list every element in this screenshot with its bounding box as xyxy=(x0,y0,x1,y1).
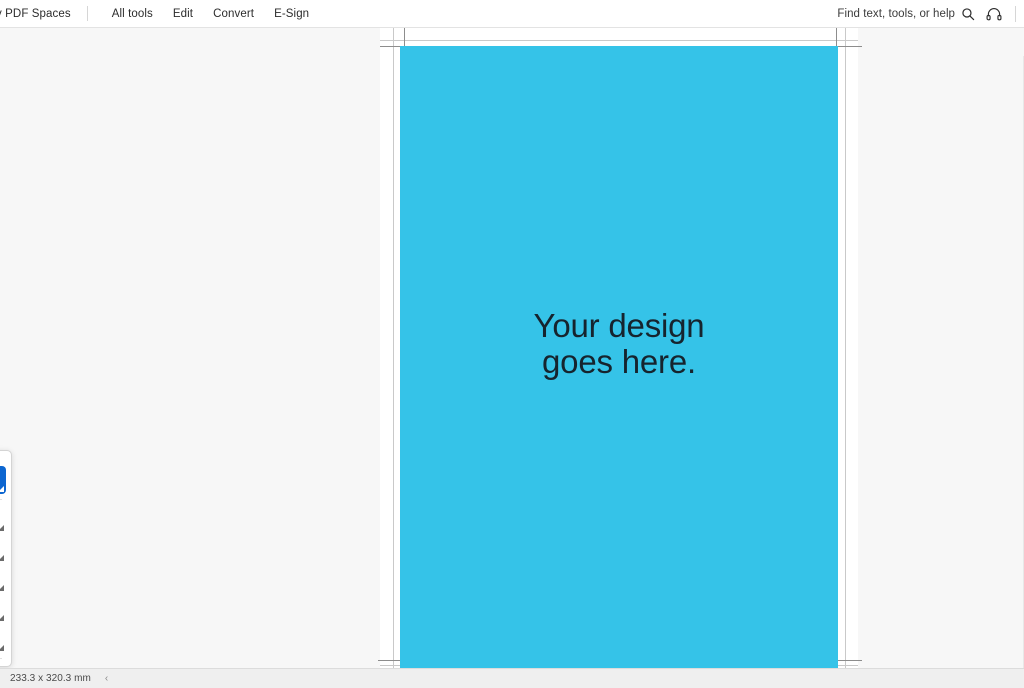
artwork-design-area[interactable]: Your design goes here. xyxy=(400,46,838,688)
highlight-comment-tool[interactable] xyxy=(0,505,6,533)
crop-mark-bottom-right-horizontal xyxy=(836,660,862,661)
tool-separator xyxy=(0,499,2,500)
draw-freehand-tool[interactable] xyxy=(0,625,6,653)
add-text-comment-tool[interactable] xyxy=(0,595,6,623)
search-icon[interactable] xyxy=(955,2,981,26)
topbar-right-divider xyxy=(1015,6,1016,22)
status-collapse-chevron-icon[interactable]: ‹ xyxy=(105,673,108,684)
chevron-down-icon[interactable] xyxy=(0,486,4,492)
chevron-down-icon[interactable] xyxy=(0,525,4,531)
status-bar: 233.3 x 320.3 mm ‹ xyxy=(0,668,1024,688)
topbar-right-group: Find text, tools, or help xyxy=(837,2,1024,26)
tool-separator xyxy=(0,658,2,659)
brand-label[interactable]: y PDF Spaces xyxy=(0,8,71,20)
acrobat-window: y PDF Spaces All tools Edit Convert E-Si… xyxy=(0,0,1024,688)
chevron-down-icon[interactable] xyxy=(0,615,4,621)
page-dimensions-label: 233.3 x 320.3 mm xyxy=(10,673,91,684)
select-text-tool[interactable] xyxy=(0,466,6,494)
chevron-down-icon[interactable] xyxy=(0,585,4,591)
bleed-guide-right xyxy=(845,28,846,668)
menu-convert[interactable]: Convert xyxy=(203,4,264,24)
menu-edit[interactable]: Edit xyxy=(163,4,203,24)
chevron-down-icon[interactable] xyxy=(0,555,4,561)
crop-mark-top-right-horizontal xyxy=(838,46,862,47)
chevron-down-icon[interactable] xyxy=(0,645,4,651)
strikethrough-comment-tool[interactable] xyxy=(0,565,6,593)
bleed-guide-left xyxy=(393,28,394,668)
bleed-guide-top xyxy=(380,40,858,41)
quick-tools-panel[interactable] xyxy=(0,450,12,667)
menu-esign[interactable]: E-Sign xyxy=(264,4,319,24)
menu-all-tools[interactable]: All tools xyxy=(102,4,163,24)
topbar-divider xyxy=(87,6,88,21)
artwork-placeholder-text: Your design goes here. xyxy=(534,308,705,381)
search-placeholder-label[interactable]: Find text, tools, or help xyxy=(837,8,955,20)
top-menu-bar: y PDF Spaces All tools Edit Convert E-Si… xyxy=(0,0,1024,28)
underline-comment-tool[interactable] xyxy=(0,535,6,563)
headset-icon[interactable] xyxy=(981,2,1007,26)
document-canvas[interactable]: Your design goes here. xyxy=(0,28,1024,668)
